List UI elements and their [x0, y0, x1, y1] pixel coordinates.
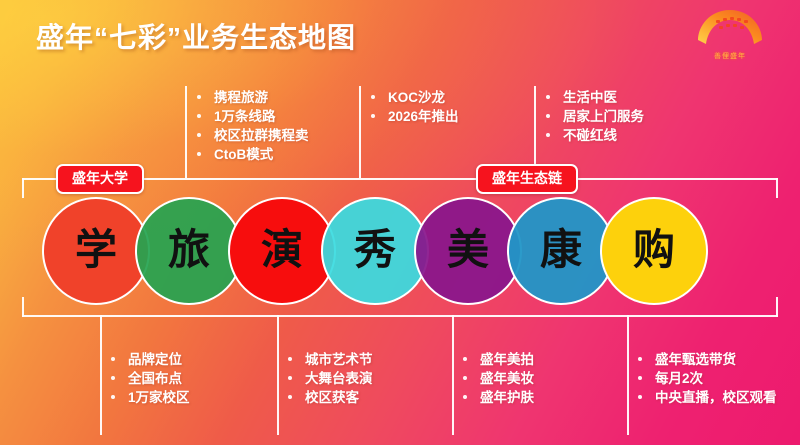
- circle-xue[interactable]: 学: [42, 197, 150, 305]
- list-item: 不碰红线: [545, 126, 644, 145]
- list-item: 校区拉群携程卖: [196, 126, 309, 145]
- list-item: 盛年美妆: [462, 369, 534, 388]
- connector-line-bottom-2: [277, 315, 279, 435]
- note-group-top-1: 携程旅游 1万条线路 校区拉群携程卖 CtoB模式: [196, 88, 309, 164]
- circle-gou[interactable]: 购: [600, 197, 708, 305]
- circle-label-xue: 学: [75, 229, 117, 271]
- connector-line-bottom-4: [627, 315, 629, 435]
- list-item: 携程旅游: [196, 88, 309, 107]
- list-item: KOC沙龙: [370, 88, 459, 107]
- list-item: 品牌定位: [110, 350, 190, 369]
- note-list: 城市艺术节 大舞台表演 校区获客: [287, 350, 373, 407]
- note-group-bottom-2: 城市艺术节 大舞台表演 校区获客: [287, 350, 373, 407]
- circle-label-lv: 旅: [168, 229, 210, 271]
- connector-line-bottom-1: [100, 315, 102, 435]
- badge-shengnian-university[interactable]: 盛年大学: [56, 164, 144, 194]
- note-group-bottom-3: 盛年美拍 盛年美妆 盛年护肤: [462, 350, 534, 407]
- fan-logo-icon: 善俚盛年: [694, 8, 766, 60]
- list-item: 中央直播，校区观看: [637, 388, 777, 407]
- ecosystem-circle-row: 学 旅 演 秀 美 康 购: [0, 197, 800, 307]
- circle-label-yan: 演: [261, 229, 303, 271]
- list-item: 2026年推出: [370, 107, 459, 126]
- note-group-top-2: KOC沙龙 2026年推出: [370, 88, 459, 126]
- connector-line-bottom-3: [452, 315, 454, 435]
- page-title: 盛年“七彩”业务生态地图: [36, 16, 356, 56]
- note-list: 盛年甄选带货 每月2次 中央直播，校区观看: [637, 350, 777, 407]
- circle-label-mei: 美: [447, 229, 489, 271]
- note-group-bottom-4: 盛年甄选带货 每月2次 中央直播，校区观看: [637, 350, 777, 407]
- note-group-bottom-1: 品牌定位 全国布点 1万家校区: [110, 350, 190, 407]
- list-item: 1万家校区: [110, 388, 190, 407]
- list-item: 居家上门服务: [545, 107, 644, 126]
- circle-lv[interactable]: 旅: [135, 197, 243, 305]
- list-item: 盛年护肤: [462, 388, 534, 407]
- list-item: 盛年甄选带货: [637, 350, 777, 369]
- rail-corner-top-left: [22, 178, 24, 198]
- note-list: 盛年美拍 盛年美妆 盛年护肤: [462, 350, 534, 407]
- note-group-top-3: 生活中医 居家上门服务 不碰红线: [545, 88, 644, 145]
- note-list: KOC沙龙 2026年推出: [370, 88, 459, 126]
- logo-text: 善俚盛年: [694, 51, 766, 61]
- note-list: 品牌定位 全国布点 1万家校区: [110, 350, 190, 407]
- connector-line-top-1: [185, 86, 187, 178]
- list-item: 盛年美拍: [462, 350, 534, 369]
- circle-xiu[interactable]: 秀: [321, 197, 429, 305]
- list-item: 校区获客: [287, 388, 373, 407]
- list-item: 大舞台表演: [287, 369, 373, 388]
- circle-label-xiu: 秀: [354, 229, 396, 271]
- circle-kang[interactable]: 康: [507, 197, 615, 305]
- list-item: 生活中医: [545, 88, 644, 107]
- connector-line-top-2: [359, 86, 361, 178]
- note-list: 生活中医 居家上门服务 不碰红线: [545, 88, 644, 145]
- circle-yan[interactable]: 演: [228, 197, 336, 305]
- circle-label-kang: 康: [540, 229, 582, 271]
- list-item: 全国布点: [110, 369, 190, 388]
- rail-corner-top-right: [776, 178, 778, 198]
- list-item: 城市艺术节: [287, 350, 373, 369]
- list-item: CtoB模式: [196, 145, 309, 164]
- circle-mei[interactable]: 美: [414, 197, 522, 305]
- list-item: 每月2次: [637, 369, 777, 388]
- circle-label-gou: 购: [633, 229, 675, 271]
- list-item: 1万条线路: [196, 107, 309, 126]
- note-list: 携程旅游 1万条线路 校区拉群携程卖 CtoB模式: [196, 88, 309, 164]
- bottom-connector-rail: [22, 315, 778, 317]
- badge-shengnian-ecochain[interactable]: 盛年生态链: [476, 164, 578, 194]
